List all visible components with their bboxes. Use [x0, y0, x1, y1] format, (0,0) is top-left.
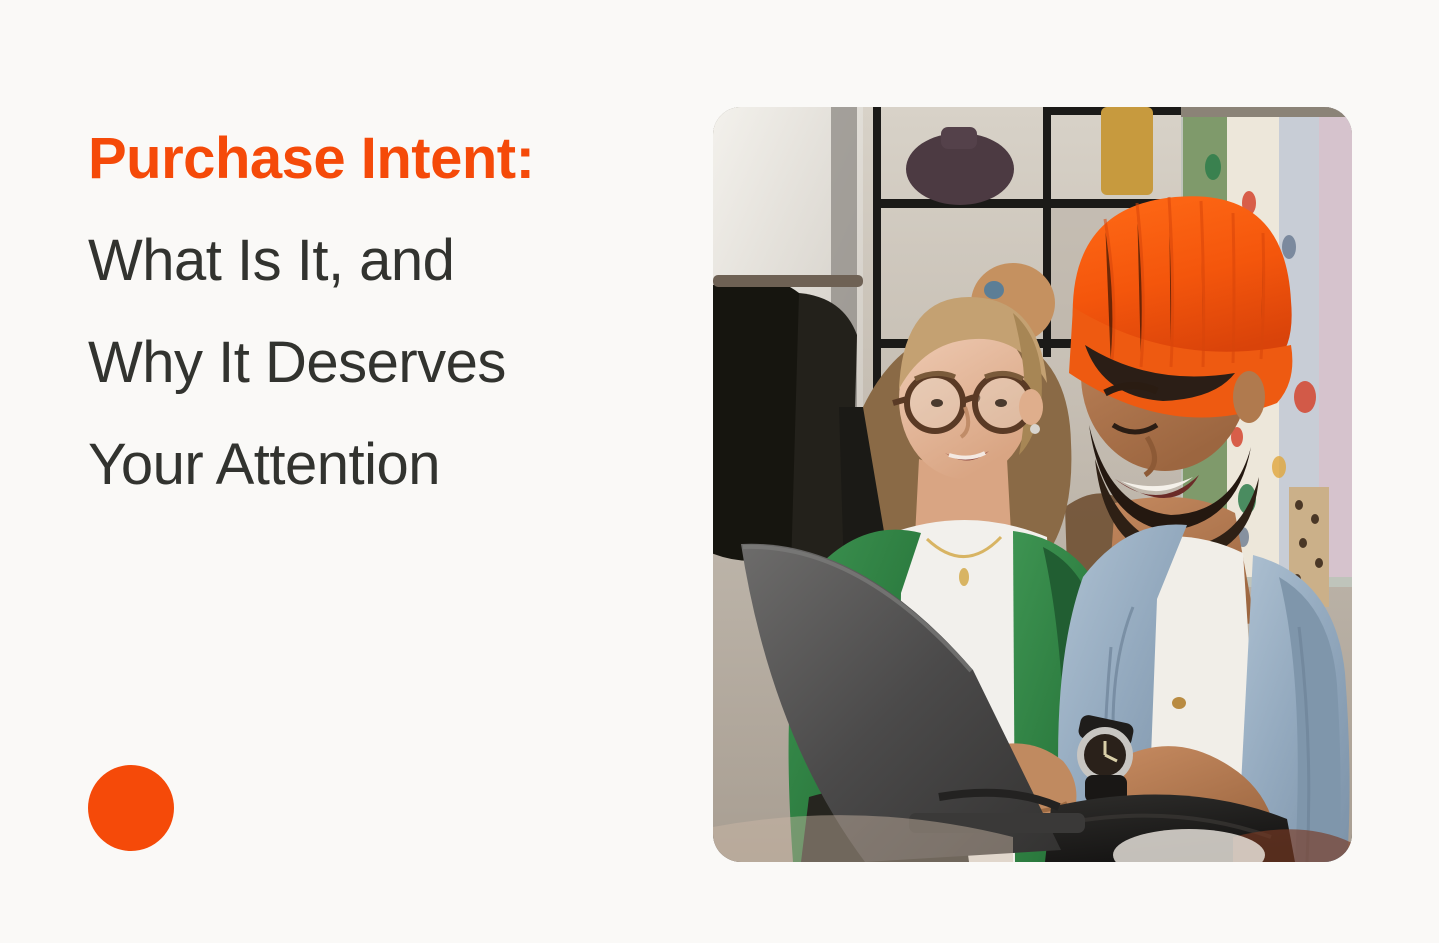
page-root: Purchase Intent: What Is It, and Why It …: [0, 0, 1439, 943]
title-line-3: Why It Deserves: [88, 312, 688, 414]
hero-photo-illustration: [713, 107, 1352, 862]
hero-photo: [713, 107, 1352, 862]
title-line-1: Purchase Intent:: [88, 108, 688, 210]
title-line-2: What Is It, and: [88, 210, 688, 312]
title-line-4: Your Attention: [88, 414, 688, 516]
page-title: Purchase Intent: What Is It, and Why It …: [88, 108, 688, 516]
orange-circle-decoration: [88, 765, 174, 851]
